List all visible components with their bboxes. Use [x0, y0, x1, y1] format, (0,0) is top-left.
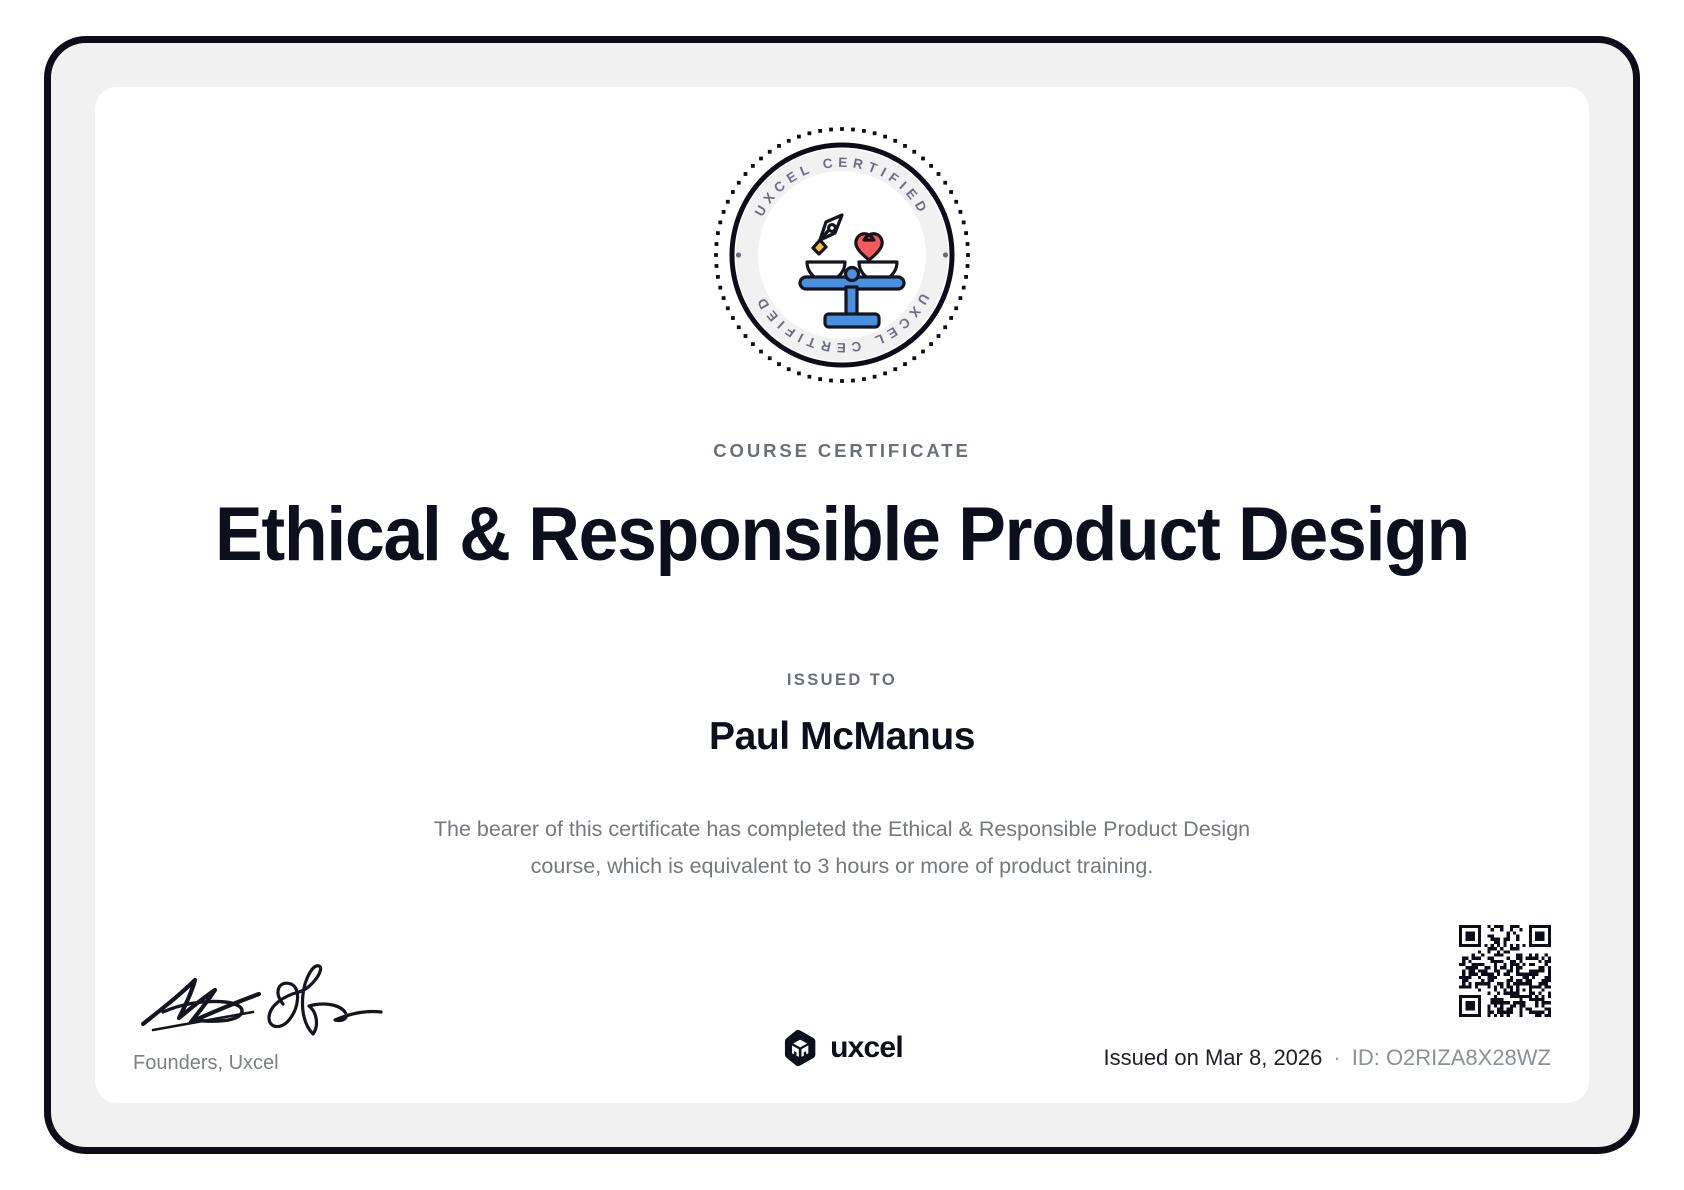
signature-block: Founders, Uxcel [133, 964, 463, 1075]
scale-pivot [846, 268, 859, 281]
uxcel-wordmark: uxcel [830, 1031, 903, 1065]
course-title: Ethical & Responsible Product Design [140, 492, 1544, 578]
verification-qr-code[interactable] [1459, 925, 1551, 1017]
certificate-frame: UXCEL CERTIFIED UXCEL CERTIFIED [44, 36, 1640, 1154]
issued-to-label: ISSUED TO [95, 671, 1589, 690]
signature-caption: Founders, Uxcel [133, 1052, 463, 1075]
scale-base [825, 314, 879, 327]
certification-seal: UXCEL CERTIFIED UXCEL CERTIFIED [708, 121, 976, 389]
uxcel-brand: uxcel [781, 1029, 903, 1067]
recipient-name: Paul McManus [95, 715, 1589, 759]
certificate-id: ID: O2RIZA8X28WZ [1352, 1045, 1551, 1071]
certificate-body-text: The bearer of this certificate has compl… [427, 811, 1257, 885]
issue-date: Issued on Mar 8, 2026 [1103, 1045, 1322, 1071]
eyebrow-label: COURSE CERTIFICATE [95, 440, 1589, 462]
uxcel-hexagon-cube-logo [781, 1029, 819, 1067]
seal-ring-bullet-left [736, 252, 741, 257]
certificate-footer: Founders, Uxcel uxcel [95, 903, 1589, 1103]
seal-ring-bullet-right [943, 252, 948, 257]
founders-signatures [133, 964, 433, 1042]
meta-separator: · [1333, 1045, 1340, 1071]
issue-metadata: Issued on Mar 8, 2026 · ID: O2RIZA8X28WZ [1103, 1045, 1551, 1071]
certificate-card: UXCEL CERTIFIED UXCEL CERTIFIED [95, 87, 1589, 1103]
